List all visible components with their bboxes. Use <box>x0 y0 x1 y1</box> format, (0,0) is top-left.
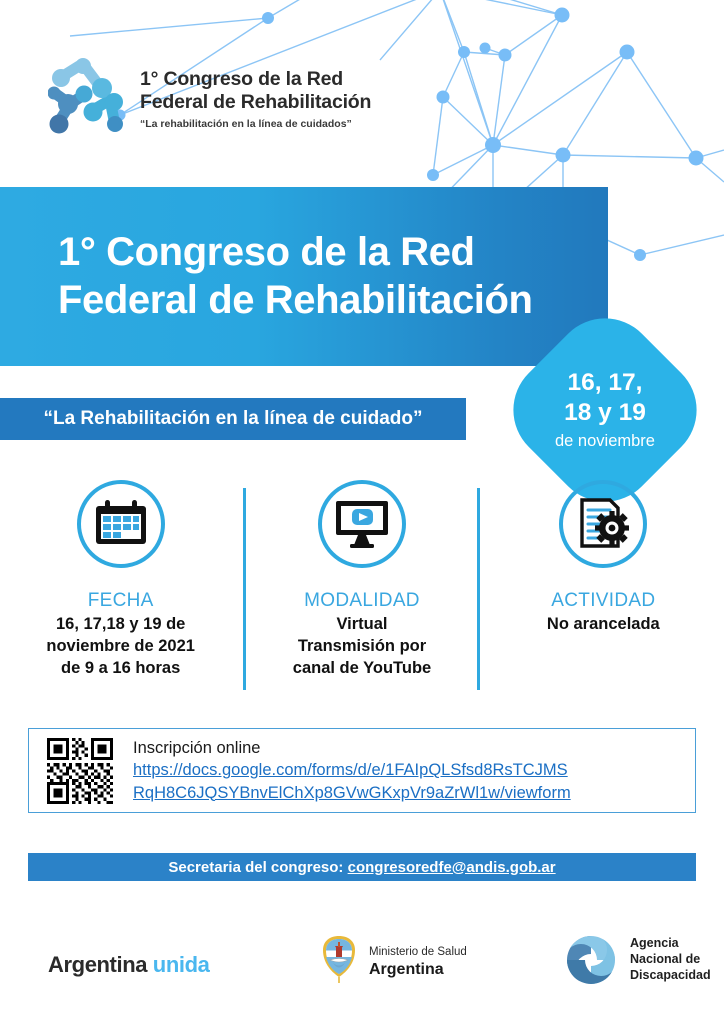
modalidad-body-line1: Virtual <box>293 614 431 636</box>
title-banner: 1° Congreso de la Red Federal de Rehabil… <box>0 187 608 366</box>
fecha-heading: FECHA <box>88 590 154 612</box>
modalidad-icon-ring <box>318 480 406 568</box>
andis-line2: Nacional de <box>630 952 711 968</box>
date-badge-line2: 18 y 19 <box>564 398 646 428</box>
calendar-icon <box>94 498 148 550</box>
ministerio-text: Ministerio de Salud Argentina <box>369 945 467 979</box>
modalidad-body-line2: Transmisión por <box>293 636 431 658</box>
header-logo: 1° Congreso de la Red Federal de Rehabil… <box>48 58 371 138</box>
argentina-coat-of-arms-icon <box>318 933 360 991</box>
unida-word: unida <box>153 952 210 977</box>
info-column-fecha: FECHA 16, 17,18 y 19 de noviembre de 202… <box>0 480 241 679</box>
secretary-bar: Secretaria del congreso: congresoredfe@a… <box>28 853 696 881</box>
monitor-video-play-icon <box>334 499 390 549</box>
fecha-body-line3: de 9 a 16 horas <box>46 658 195 680</box>
andis-text: Agencia Nacional de Discapacidad <box>630 936 711 983</box>
argentina-word: Argentina <box>48 952 153 977</box>
fecha-icon-ring <box>77 480 165 568</box>
registration-box[interactable]: Inscripción online https://docs.google.c… <box>28 728 696 813</box>
column-divider-2 <box>477 488 480 690</box>
network-nodes-logo-icon <box>48 58 126 138</box>
subtitle-bar: “La Rehabilitación en la línea de cuidad… <box>0 398 466 440</box>
header-logo-tagline: “La rehabilitación en la línea de cuidad… <box>140 118 371 130</box>
header-logo-line1: 1° Congreso de la Red <box>140 68 371 91</box>
ministerio-line2: Argentina <box>369 960 467 979</box>
header-logo-text: 1° Congreso de la Red Federal de Rehabil… <box>140 66 371 130</box>
poster-root: 1° Congreso de la Red Federal de Rehabil… <box>0 0 724 1024</box>
qr-code-wrapper[interactable] <box>43 737 117 805</box>
modalidad-heading: MODALIDAD <box>304 590 420 612</box>
andis-logo: Agencia Nacional de Discapacidad <box>562 931 711 989</box>
registration-url-line2[interactable]: RqH8C6JQSYBnvElChXp8GVwGKxpVr9aZrWl1w/vi… <box>133 782 571 804</box>
andis-line3: Discapacidad <box>630 968 711 984</box>
secretary-text: Secretaria del congreso: congresoredfe@a… <box>168 859 555 876</box>
qr-code-icon[interactable] <box>45 738 115 804</box>
andis-swirl-logo-icon <box>562 931 620 989</box>
actividad-icon-ring <box>559 480 647 568</box>
subtitle-text: “La Rehabilitación en la línea de cuidad… <box>43 408 422 430</box>
modalidad-body-line3: canal de YouTube <box>293 658 431 680</box>
document-gear-icon <box>576 498 630 550</box>
registration-url-line1[interactable]: https://docs.google.com/forms/d/e/1FAIpQ… <box>133 759 571 781</box>
info-column-actividad: ACTIVIDAD No arancelada <box>483 480 724 636</box>
fecha-body-line2: noviembre de 2021 <box>46 636 195 658</box>
info-column-modalidad: MODALIDAD Virtual Transmisión por canal … <box>241 480 482 679</box>
date-badge: 16, 17, 18 y 19 de noviembre <box>525 330 685 490</box>
actividad-body-line1: No arancelada <box>547 614 660 636</box>
modalidad-body: Virtual Transmisión por canal de YouTube <box>293 614 431 679</box>
footer: Argentina unida <box>0 915 724 1024</box>
secretary-label: Secretaria del congreso: <box>168 859 347 876</box>
header-logo-line2: Federal de Rehabilitación <box>140 91 371 114</box>
secretary-email-link[interactable]: congresoredfe@andis.gob.ar <box>348 859 556 876</box>
ministerio-line1: Ministerio de Salud <box>369 945 467 959</box>
date-badge-line1: 16, 17, <box>568 368 643 398</box>
info-columns: FECHA 16, 17,18 y 19 de noviembre de 202… <box>0 480 724 695</box>
title-line-2: Federal de Rehabilitación <box>58 277 533 324</box>
actividad-heading: ACTIVIDAD <box>551 590 655 612</box>
title-line-1: 1° Congreso de la Red <box>58 229 533 276</box>
page-title: 1° Congreso de la Red Federal de Rehabil… <box>0 229 533 323</box>
actividad-body: No arancelada <box>547 614 660 636</box>
fecha-body: 16, 17,18 y 19 de noviembre de 2021 de 9… <box>46 614 195 679</box>
registration-label: Inscripción online <box>133 737 571 759</box>
argentina-unida-logo: Argentina unida <box>48 952 209 978</box>
ministerio-de-salud-logo: Ministerio de Salud Argentina <box>318 933 467 991</box>
andis-line1: Agencia <box>630 936 711 952</box>
fecha-body-line1: 16, 17,18 y 19 de <box>46 614 195 636</box>
date-badge-line3: de noviembre <box>555 431 655 452</box>
registration-text: Inscripción online https://docs.google.c… <box>133 737 571 804</box>
